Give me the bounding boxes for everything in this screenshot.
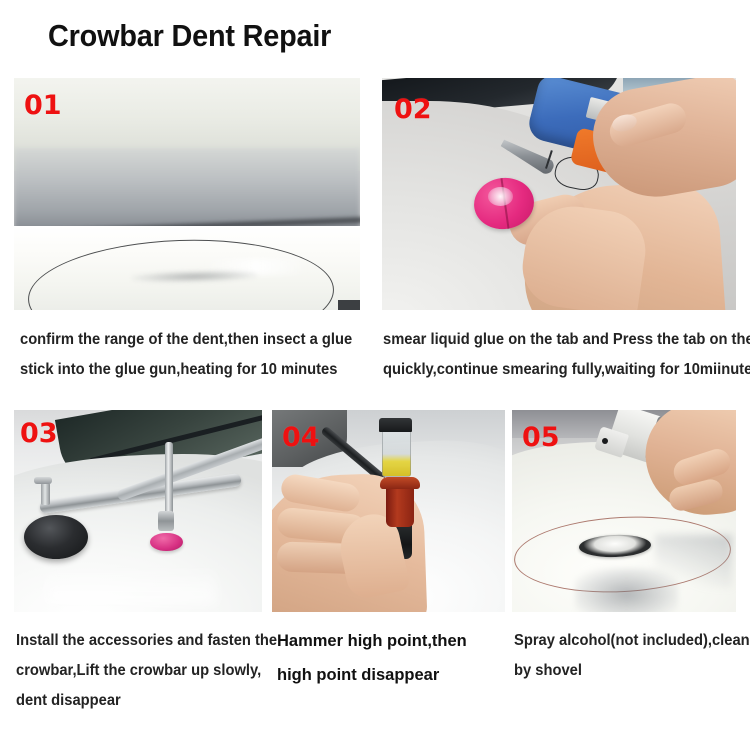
step-panel-01: 01: [14, 78, 360, 310]
step-panel-03: 03: [14, 410, 262, 612]
step-badge-01: 01: [24, 90, 62, 121]
step-badge-05: 05: [522, 422, 560, 453]
crowbar-left-wingnut: [34, 477, 52, 484]
step-caption-04: Hammer high point,then high point disapp…: [277, 624, 512, 692]
caption-line: high point disappear: [277, 658, 512, 692]
caption-line: Install the accessories and fasten the: [16, 626, 254, 656]
step-caption-03: Install the accessories and fasten the c…: [16, 626, 254, 716]
step-caption-05: Spray alcohol(not included),cleaning by …: [514, 626, 734, 686]
step-photo-02: [382, 78, 736, 310]
step-badge-03: 03: [20, 418, 58, 449]
caption-line: smear liquid glue on the tab and Press t…: [383, 325, 730, 355]
step-panel-05: 05: [512, 410, 736, 612]
hood-reflection: [44, 564, 218, 604]
caption-line: by shovel: [514, 656, 734, 686]
caption-line: dent disappear: [16, 686, 254, 716]
caption-line: Hammer high point,then: [277, 624, 512, 658]
photo-corner-artifact: [338, 300, 360, 310]
crowbar-left-bolt: [41, 483, 50, 505]
crowbar-lift-post: [165, 442, 173, 515]
caption-line: crowbar,Lift the crowbar up slowly,: [16, 656, 254, 686]
caption-line: Spray alcohol(not included),cleaning: [514, 626, 734, 656]
step-caption-02: smear liquid glue on the tab and Press t…: [383, 325, 730, 385]
caption-line: confirm the range of the dent,then insec…: [20, 325, 353, 355]
caption-line: stick into the glue gun,heating for 10 m…: [20, 355, 353, 385]
step-badge-02: 02: [394, 94, 432, 125]
hot-glue-blob: [488, 187, 513, 206]
vial-cap: [379, 418, 412, 432]
step-panel-02: 02: [382, 78, 736, 310]
hand-shadow: [655, 535, 731, 588]
page-title: Crowbar Dent Repair: [48, 18, 331, 54]
step-badge-04: 04: [282, 422, 320, 453]
step-photo-01: [14, 78, 360, 310]
crowbar-lift-knob: [158, 511, 174, 531]
amber-glue-vial: [382, 426, 412, 476]
caption-line: quickly,continue smearing fully,waiting …: [383, 355, 730, 385]
tap-down-pen-cap: [380, 477, 420, 489]
step-caption-01: confirm the range of the dent,then insec…: [20, 325, 353, 385]
step-panel-04: 04: [272, 410, 505, 612]
spray-nozzle-hole: [602, 438, 608, 444]
